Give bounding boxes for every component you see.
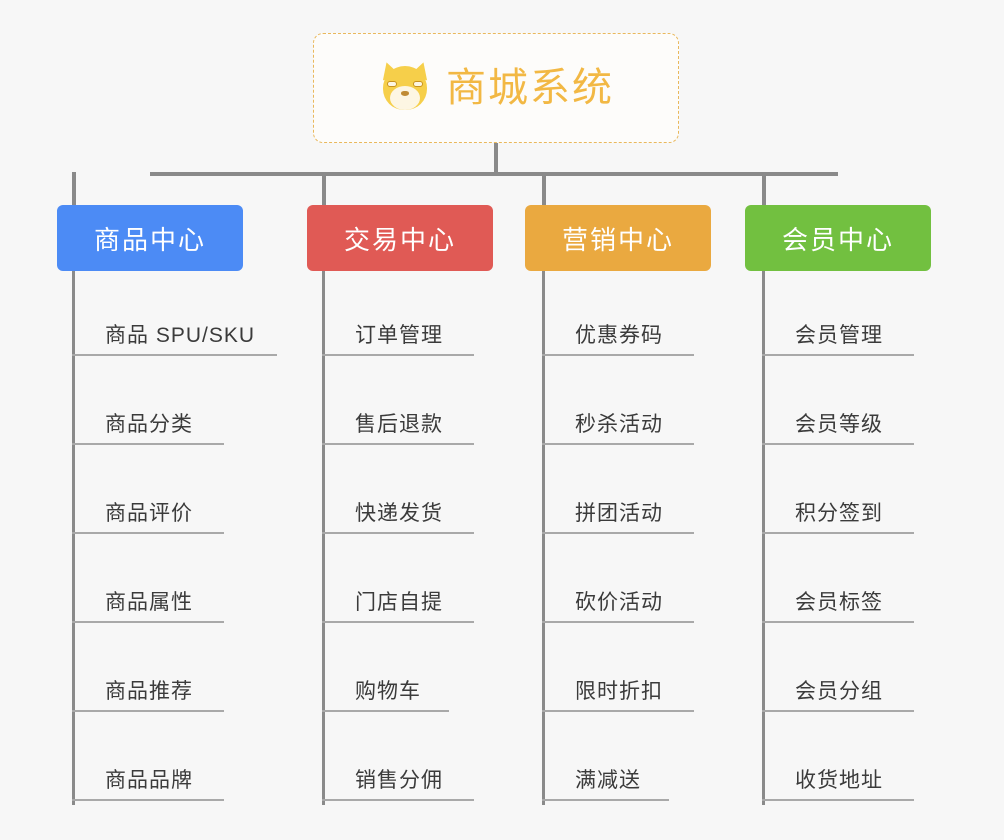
connector-drop-3 [542, 172, 546, 207]
connector-drop-1 [72, 172, 76, 207]
leaf-item-underline [542, 532, 694, 534]
leaf-item-underline [72, 532, 224, 534]
leaf-item-label: 砍价活动 [575, 586, 663, 616]
leaf-item-underline [762, 799, 914, 801]
leaf-item-underline [322, 354, 474, 356]
leaf-item-label: 门店自提 [355, 586, 443, 616]
leaf-item-underline [542, 354, 694, 356]
leaf-item-underline [72, 443, 224, 445]
connector-horizontal-bus [150, 172, 838, 176]
leaf-item-label: 拼团活动 [575, 497, 663, 527]
leaf-item-label: 会员分组 [795, 675, 883, 705]
category-node-3[interactable]: 营销中心 [525, 205, 711, 271]
branch-trunk [762, 271, 765, 805]
connector-drop-2 [322, 172, 326, 207]
leaf-item-underline [762, 354, 914, 356]
leaf-item-label: 销售分佣 [355, 764, 443, 794]
leaf-item-underline [322, 799, 474, 801]
category-node-1[interactable]: 商品中心 [57, 205, 243, 271]
leaf-item-label: 积分签到 [795, 497, 883, 527]
leaf-item-label: 售后退款 [355, 408, 443, 438]
connector-root-stem [494, 143, 498, 175]
leaf-item-label: 商品 SPU/SKU [105, 319, 255, 349]
leaf-item-label: 快递发货 [355, 497, 443, 527]
leaf-item-underline [322, 710, 449, 712]
leaf-item-underline [72, 354, 277, 356]
root-node[interactable]: 商城系统 [313, 33, 679, 143]
leaf-item-underline [542, 621, 694, 623]
leaf-item-underline [322, 443, 474, 445]
category-node-label: 商品中心 [94, 220, 206, 257]
leaf-item-label: 商品评价 [105, 497, 193, 527]
leaf-item-label: 秒杀活动 [575, 408, 663, 438]
leaf-item-underline [322, 621, 474, 623]
leaf-item-underline [542, 710, 694, 712]
branch-trunk [542, 271, 545, 805]
category-node-label: 会员中心 [782, 220, 894, 257]
leaf-item-underline [762, 621, 914, 623]
leaf-item-underline [72, 799, 224, 801]
leaf-item-underline [72, 621, 224, 623]
leaf-item-underline [542, 443, 694, 445]
category-node-4[interactable]: 会员中心 [745, 205, 931, 271]
leaf-item-label: 优惠券码 [575, 319, 663, 349]
leaf-item-underline [762, 710, 914, 712]
leaf-item-underline [322, 532, 474, 534]
leaf-item-label: 会员标签 [795, 586, 883, 616]
leaf-item-label: 商品品牌 [105, 764, 193, 794]
leaf-item-underline [72, 710, 224, 712]
leaf-item-underline [542, 799, 669, 801]
leaf-item-label: 满减送 [575, 764, 641, 794]
leaf-item-label: 会员管理 [795, 319, 883, 349]
category-node-label: 营销中心 [562, 220, 674, 257]
leaf-item-label: 商品推荐 [105, 675, 193, 705]
leaf-item-label: 限时折扣 [575, 675, 663, 705]
leaf-item-label: 商品分类 [105, 408, 193, 438]
category-node-label: 交易中心 [344, 220, 456, 257]
leaf-item-label: 商品属性 [105, 586, 193, 616]
leaf-item-underline [762, 532, 914, 534]
leaf-item-underline [762, 443, 914, 445]
org-chart-canvas: 商城系统 商品 SPU/SKU商品分类商品评价商品属性商品推荐商品品牌订单管理售… [0, 0, 1004, 840]
connector-drop-4 [762, 172, 766, 207]
root-node-label: 商城系统 [446, 68, 614, 108]
branch-trunk [72, 271, 75, 805]
shiba-dog-emoji [378, 62, 432, 114]
leaf-item-label: 购物车 [355, 675, 421, 705]
branch-trunk [322, 271, 325, 805]
leaf-item-label: 会员等级 [795, 408, 883, 438]
category-node-2[interactable]: 交易中心 [307, 205, 493, 271]
leaf-item-label: 订单管理 [355, 319, 443, 349]
leaf-item-label: 收货地址 [795, 764, 883, 794]
